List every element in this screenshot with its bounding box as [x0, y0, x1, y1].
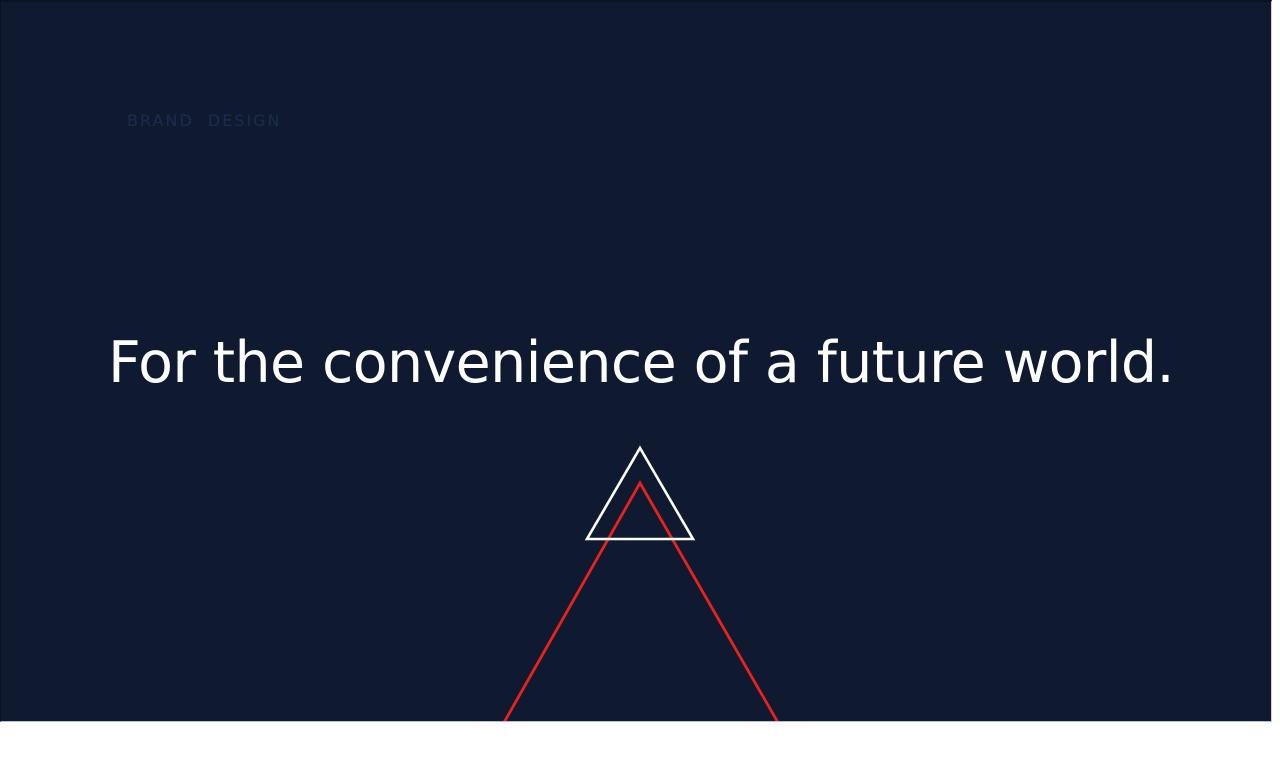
headline-text: For the convenience of a future world.	[1, 328, 1272, 398]
slide-panel: BRAND DESIGN For the convenience of a fu…	[0, 0, 1272, 722]
slide-root: BRAND DESIGN For the convenience of a fu…	[0, 0, 1280, 759]
white-triangle-outline	[587, 448, 693, 539]
red-triangle-outline	[502, 483, 780, 722]
brand-eyebrow-label: BRAND DESIGN	[127, 110, 282, 132]
